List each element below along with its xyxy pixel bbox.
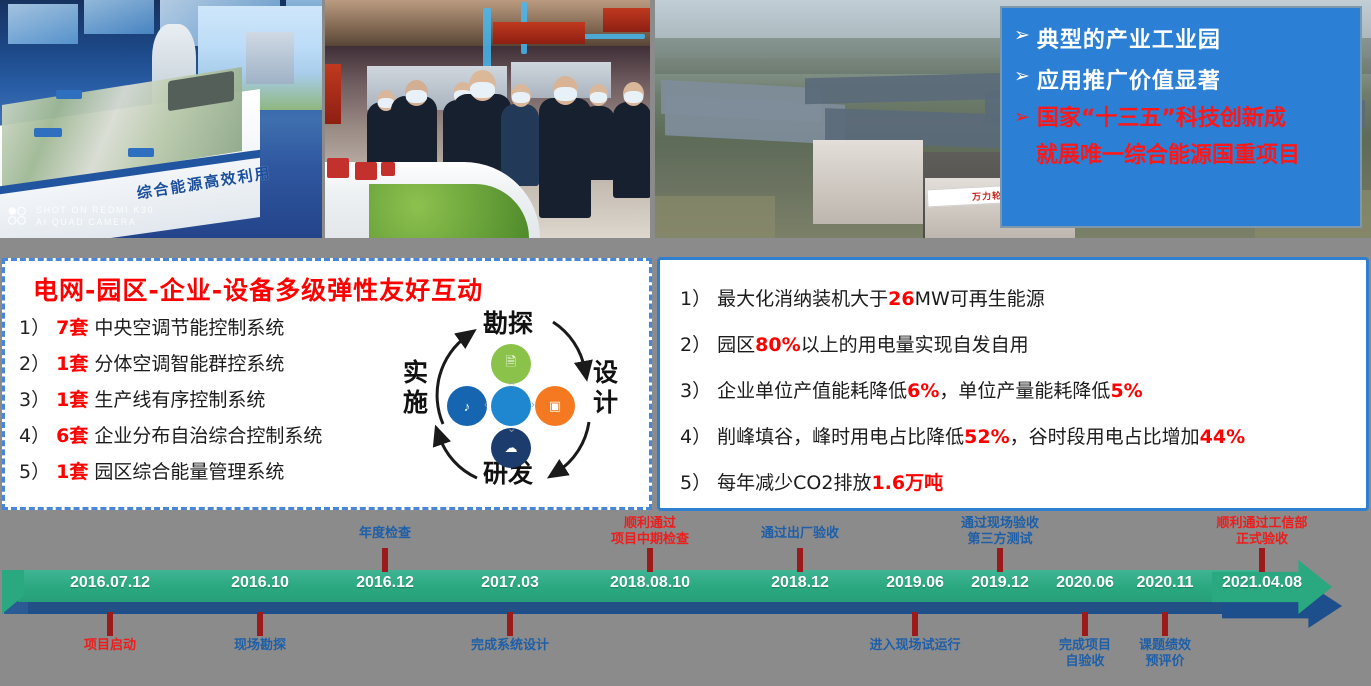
callout-item: ➢ 应用推广价值显著 [1014,63,1352,95]
item-number: 2） [680,334,711,356]
timeline-note: 顺利通过项目中期检查 [611,516,689,548]
timeline-note: 顺利通过工信部正式验收 [1216,516,1307,548]
item-number: 2） [19,353,50,375]
callout-item: ➢ 国家“十三五”科技创新成 [1014,104,1352,134]
photo-row: 综合能源高效利用 SHOT ON REDMI K30 AI QUAD CAMER… [0,0,1371,240]
bare-ground [655,196,775,238]
timeline-note: 年度检查 [359,526,411,542]
led-banner [603,8,650,32]
timeline-date: 2021.04.08 [1222,574,1302,592]
face-mask [554,87,577,101]
callout-item: ➢ 典型的产业工业园 [1014,22,1352,54]
list-item: 3） 企业单位产值能耗降低6%，单位产量能耗降低5% [680,368,1366,414]
timeline-marker-stem [1162,612,1168,636]
item-text: 园区综合能量管理系统 [94,461,284,483]
watermark-line-1: SHOT ON REDMI K30 [36,204,154,216]
timeline-marker-stem [507,612,513,636]
callout-item-label: 典型的产业工业园 [1037,22,1221,54]
item-quantity: 1套 [56,389,88,411]
neon-strip [483,8,491,68]
timeline-date: 2016.10 [231,574,289,592]
led-banner [493,22,585,44]
panel-right: 1） 最大化消纳装机大于26MW可再生能源 2） 园区80%以上的用电量实现自发… [657,257,1369,511]
timeline-marker-stem [1082,612,1088,636]
timeline-marker-stem [382,548,388,572]
face-mask [512,92,530,103]
item-highlight: 1.6万吨 [871,472,943,494]
timeline-date: 2017.03 [481,574,539,592]
chevron-bullet-icon: ➢ [1014,26,1030,45]
model-building [327,158,349,178]
watermark-line-2: AI QUAD CAMERA [36,216,136,228]
timeline-date: 2018.08.10 [610,574,690,592]
item-text: 中央空调节能控制系统 [94,317,284,339]
item-quantity: 6套 [56,425,88,447]
item-quantity: 7套 [56,317,88,339]
item-highlight: 26 [888,288,914,310]
item-quantity: 1套 [56,461,88,483]
list-item: 5） 1套 园区综合能量管理系统 [19,454,369,490]
list-item: 5） 每年减少CO2排放1.6万吨 [680,460,1366,506]
item-number: 3） [19,389,50,411]
item-highlight: 52% [964,426,1009,448]
list-item: 4） 6套 企业分布自治综合控制系统 [19,418,369,454]
panel-left-list: 1） 7套 中央空调节能控制系统 2） 1套 分体空调智能群控系统 3） 1套 … [19,310,369,490]
timeline-note: 进入现场试运行 [869,638,960,654]
item-text: 生产线有序控制系统 [94,389,265,411]
item-number: 5） [19,461,50,483]
callout-item-label: 应用推广价值显著 [1037,63,1221,95]
briefcase-node-icon: ▣ [535,386,575,426]
visitor-figure [613,102,650,198]
main-plant-building [813,140,923,224]
timeline-date: 2016.12 [356,574,414,592]
headset-node-icon: ♪ [447,386,487,426]
timeline-date: 2016.07.12 [70,574,150,592]
list-item: 2） 园区80%以上的用电量实现自发自用 [680,322,1366,368]
chevron-bullet-icon: ➢ [1014,67,1030,86]
face-mask [406,90,427,103]
model-building [355,162,377,180]
item-text: 园区 [717,334,755,356]
booth-screen [84,0,154,34]
timeline-note: 完成系统设计 [471,638,549,654]
item-highlight: 6% [907,380,939,402]
item-quantity: 1套 [56,353,88,375]
timeline-note: 通过出厂验收 [761,526,839,542]
timeline-marker-stem [257,612,263,636]
timeline-date: 2018.12 [771,574,829,592]
item-text: 企业分布自治综合控制系统 [94,425,322,447]
item-text: 削峰填谷，峰时用电占比降低 [717,426,964,448]
chevron-bullet-icon: ➢ [1014,108,1030,127]
model-building [381,162,395,176]
panel-right-list: 1） 最大化消纳装机大于26MW可再生能源 2） 园区80%以上的用电量实现自发… [680,276,1366,506]
list-item: 1） 最大化消纳装机大于26MW可再生能源 [680,276,1366,322]
callout-list: ➢ 典型的产业工业园 ➢ 应用推广价值显著 ➢ 国家“十三五”科技创新成 [1002,8,1360,134]
timeline-note: 通过现场验收第三方测试 [961,516,1039,548]
timeline-note: 现场勘探 [234,638,286,654]
callout-item-label: 国家“十三五”科技创新成 [1037,104,1286,134]
callout-box: ➢ 典型的产业工业园 ➢ 应用推广价值显著 ➢ 国家“十三五”科技创新成 就展唯… [1000,6,1362,228]
model-flag [34,128,62,137]
item-text: MW可再生能源 [915,288,1045,310]
item-highlight: 5% [1110,380,1142,402]
exhibition-hall-photo: 综合能源高效利用 SHOT ON REDMI K30 AI QUAD CAMER… [0,0,322,238]
connector-up-icon: ⌃ [507,380,516,393]
item-text: 最大化消纳装机大于 [717,288,888,310]
project-timeline: 2016.07.12项目启动2016.10现场勘探2016.12年度检查2017… [0,512,1371,686]
timeline-date: 2020.11 [1137,574,1194,592]
timeline-date: 2020.06 [1056,574,1114,592]
item-highlight: 44% [1200,426,1245,448]
face-mask [470,82,495,98]
item-number: 4） [19,425,50,447]
face-mask [624,91,643,103]
timeline-marker-stem [997,548,1003,572]
model-flag [56,90,82,99]
item-text: 分体空调智能群控系统 [94,353,284,375]
item-text: 企业单位产值能耗降低 [717,380,907,402]
item-number: 3） [680,380,711,402]
timeline-marker-stem [647,548,653,572]
timeline-marker-stem [107,612,113,636]
face-mask [590,92,607,103]
item-text: 以上的用电量实现自发自用 [801,334,1029,356]
connector-down-icon: ⌄ [507,422,516,435]
timeline-bar-shadow-2 [28,602,1276,611]
booth-screen [8,4,78,44]
cycle-label-left: 实施 [403,358,429,418]
timeline-note: 项目启动 [84,638,136,654]
item-number: 5） [680,472,711,494]
item-number: 1） [19,317,50,339]
timeline-note: 完成项目自验收 [1059,638,1111,670]
timeline-marker-stem [797,548,803,572]
list-item: 3） 1套 生产线有序控制系统 [19,382,369,418]
timeline-marker-stem [912,612,918,636]
connector-right-icon: › [531,399,535,411]
timeline-date: 2019.06 [886,574,944,592]
timeline-note: 课题绩效预评价 [1139,638,1191,670]
leaders-visit-photo [325,0,650,238]
list-item: 1） 7套 中央空调节能控制系统 [19,310,369,346]
item-highlight: 80% [755,334,800,356]
timeline-date: 2019.12 [971,574,1029,592]
cycle-label-top: 勘探 [483,304,533,340]
item-number: 4） [680,426,711,448]
cycle-label-right: 设计 [593,358,619,418]
lifecycle-diagram: 勘探 设计 研发 实施 🗎 ☁ ♪ ▣ ⌃ ⌄ ‹ › [385,296,640,502]
camera-watermark-icon [6,206,32,228]
timeline-marker-stem [1259,548,1265,572]
visitor-figure [581,106,615,180]
item-text: ，谷时段用电占比增加 [1010,426,1200,448]
item-text: ，单位产量能耗降低 [939,380,1110,402]
callout-continuation: 就展唯一综合能源国重项目 [1036,141,1360,171]
officer-figure [501,104,539,186]
led-banner [325,64,341,124]
item-number: 1） [680,288,711,310]
connector-left-icon: ‹ [484,399,488,411]
item-text: 每年减少CO2排放 [717,472,871,494]
model-flag [128,148,154,157]
list-item: 4） 削峰填谷，峰时用电占比降低52%，谷时段用电占比增加44% [680,414,1366,460]
document-node-icon: 🗎 [491,344,531,384]
list-item: 2） 1套 分体空调智能群控系统 [19,346,369,382]
